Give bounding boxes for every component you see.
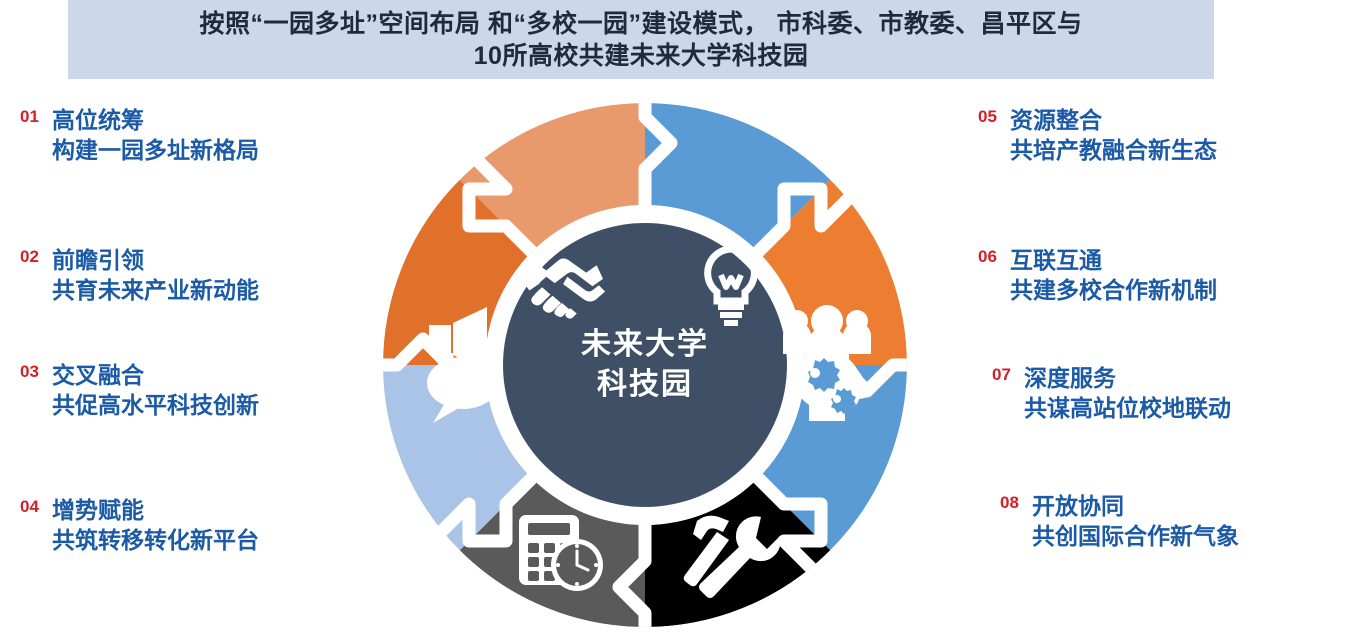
- title-line-1: 按照“一园多址”空间布局 和“多校一园”建设模式， 市科委、市教委、昌平区与: [200, 10, 1083, 38]
- item-number: 03: [20, 360, 52, 380]
- item-subtitle: 共建多校合作新机制: [1010, 277, 1217, 303]
- item-subtitle: 共培产教融合新生态: [1010, 137, 1217, 163]
- list-item-01[interactable]: 01 高位统筹 构建一园多址新格局: [20, 105, 344, 166]
- item-title: 增势赋能: [52, 497, 144, 523]
- list-item-06[interactable]: 06 互联互通 共建多校合作新机制: [978, 245, 1308, 306]
- item-number: 05: [978, 105, 1010, 125]
- item-text: 开放协同 共创国际合作新气象: [1032, 491, 1308, 552]
- list-item-03[interactable]: 03 交叉融合 共促高水平科技创新: [20, 360, 344, 421]
- list-item-02[interactable]: 02 前瞻引领 共育未来产业新动能: [20, 245, 344, 306]
- item-text: 资源整合 共培产教融合新生态: [1010, 105, 1308, 166]
- item-subtitle: 共筑转移转化新平台: [52, 527, 259, 553]
- item-subtitle: 构建一园多址新格局: [52, 137, 259, 163]
- item-title: 开放协同: [1032, 493, 1124, 519]
- item-subtitle: 共促高水平科技创新: [52, 392, 259, 418]
- item-text: 增势赋能 共筑转移转化新平台: [52, 495, 344, 556]
- item-title: 前瞻引领: [52, 247, 144, 273]
- hub-circle[interactable]: [503, 223, 787, 507]
- item-number: 02: [20, 245, 52, 265]
- item-title: 互联互通: [1010, 247, 1102, 273]
- item-text: 高位统筹 构建一园多址新格局: [52, 105, 344, 166]
- item-subtitle: 共谋高站位校地联动: [1024, 395, 1231, 421]
- title-text: 按照“一园多址”空间布局 和“多校一园”建设模式， 市科委、市教委、昌平区与 1…: [190, 8, 1093, 72]
- title-banner: 按照“一园多址”空间布局 和“多校一园”建设模式， 市科委、市教委、昌平区与 1…: [68, 0, 1214, 79]
- item-title: 高位统筹: [52, 107, 144, 133]
- list-item-08[interactable]: 08 开放协同 共创国际合作新气象: [1000, 491, 1308, 552]
- item-number: 08: [1000, 491, 1032, 511]
- title-line-2: 10所高校共建未来大学科技园: [200, 40, 1083, 72]
- list-item-04[interactable]: 04 增势赋能 共筑转移转化新平台: [20, 495, 344, 556]
- item-subtitle: 共育未来产业新动能: [52, 277, 259, 303]
- item-text: 深度服务 共谋高站位校地联动: [1024, 363, 1308, 424]
- list-item-07[interactable]: 07 深度服务 共谋高站位校地联动: [992, 363, 1308, 424]
- item-title: 深度服务: [1024, 365, 1116, 391]
- item-text: 互联互通 共建多校合作新机制: [1010, 245, 1308, 306]
- item-text: 交叉融合 共促高水平科技创新: [52, 360, 344, 421]
- list-item-05[interactable]: 05 资源整合 共培产教融合新生态: [978, 105, 1308, 166]
- wheel-diagram: 未来大学 科技园: [378, 98, 912, 632]
- item-number: 01: [20, 105, 52, 125]
- item-number: 06: [978, 245, 1010, 265]
- item-number: 04: [20, 495, 52, 515]
- item-number: 07: [992, 363, 1024, 383]
- item-title: 资源整合: [1010, 107, 1102, 133]
- item-title: 交叉融合: [52, 362, 144, 388]
- item-subtitle: 共创国际合作新气象: [1032, 523, 1239, 549]
- item-text: 前瞻引领 共育未来产业新动能: [52, 245, 344, 306]
